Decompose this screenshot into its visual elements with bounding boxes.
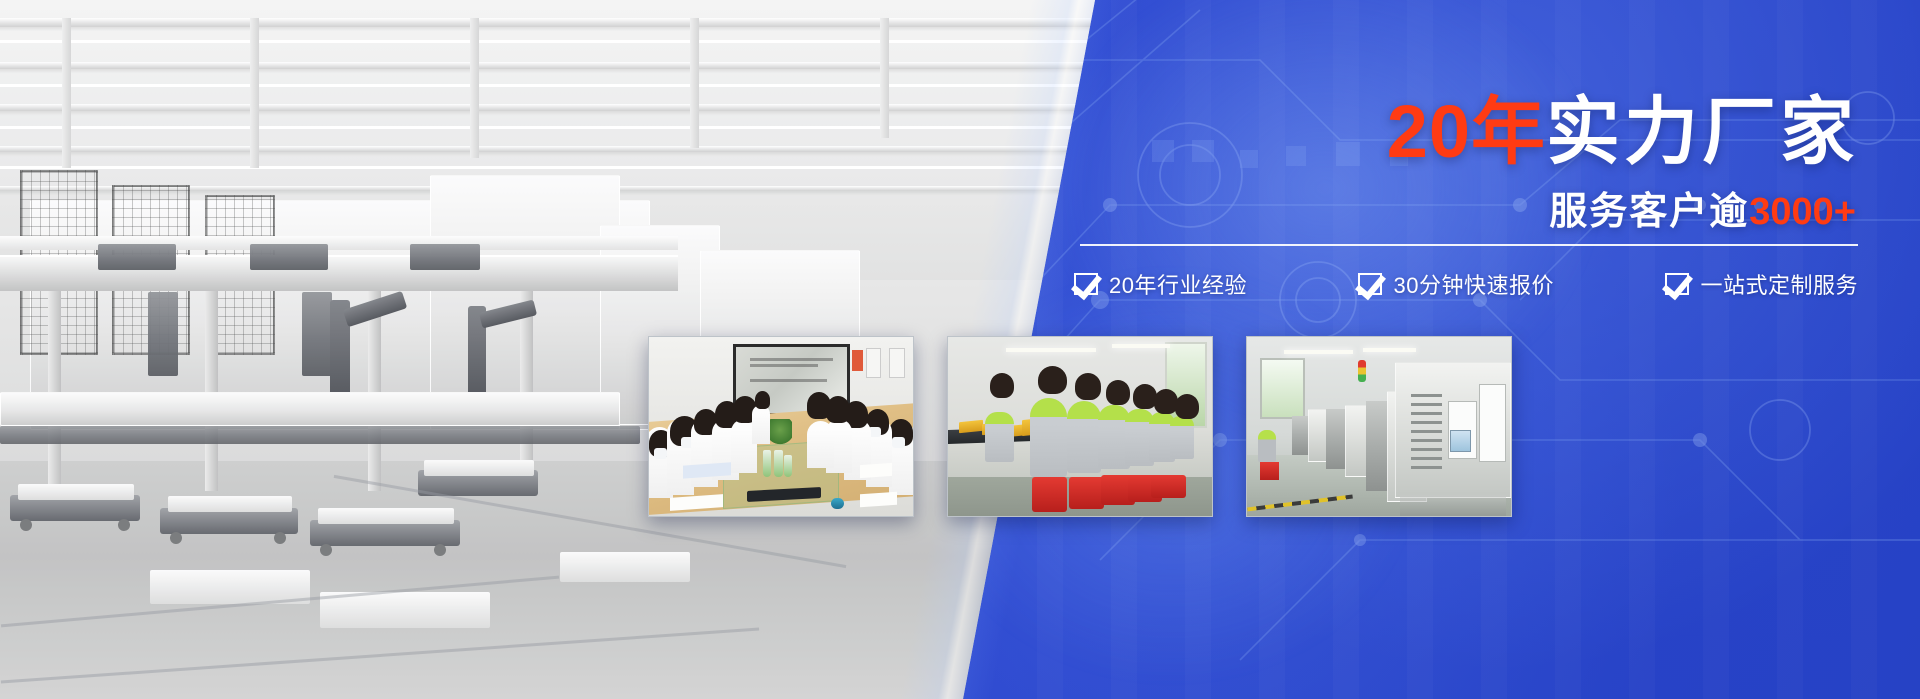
photo-cnc-machine-shop [1246, 336, 1512, 517]
headline-text: 实力厂家 [1546, 90, 1858, 173]
feature-item-experience: 20年行业经验 [1074, 268, 1247, 300]
subtitle-text: 服务客户逾 [1549, 191, 1749, 233]
photo-assembly-line-workers [947, 336, 1213, 517]
feature-item-custom-service: 一站式定制服务 [1665, 268, 1858, 300]
photo-strip [648, 336, 1512, 517]
feature-list: 20年行业经验 30分钟快速报价 一站式定制服务 [1074, 268, 1858, 300]
checkbox-check-icon [1665, 273, 1689, 295]
feature-label: 一站式定制服务 [1700, 268, 1858, 300]
divider [1080, 244, 1858, 246]
feature-item-quote: 30分钟快速报价 [1358, 268, 1553, 300]
hero-banner: 20年实力厂家 服务客户逾3000+ 20年行业经验 30分钟快速报价 一站式定… [0, 0, 1920, 699]
checkbox-check-icon [1358, 273, 1382, 295]
feature-label: 20年行业经验 [1109, 268, 1247, 300]
headline-number: 20年 [1387, 90, 1546, 173]
feature-label: 30分钟快速报价 [1393, 268, 1553, 300]
subtitle: 服务客户逾3000+ [1549, 180, 1856, 235]
page-title: 20年实力厂家 [1387, 95, 1858, 169]
checkbox-check-icon [1074, 273, 1098, 295]
subtitle-number: 3000+ [1749, 191, 1856, 233]
photo-meeting-training-room [648, 336, 914, 517]
